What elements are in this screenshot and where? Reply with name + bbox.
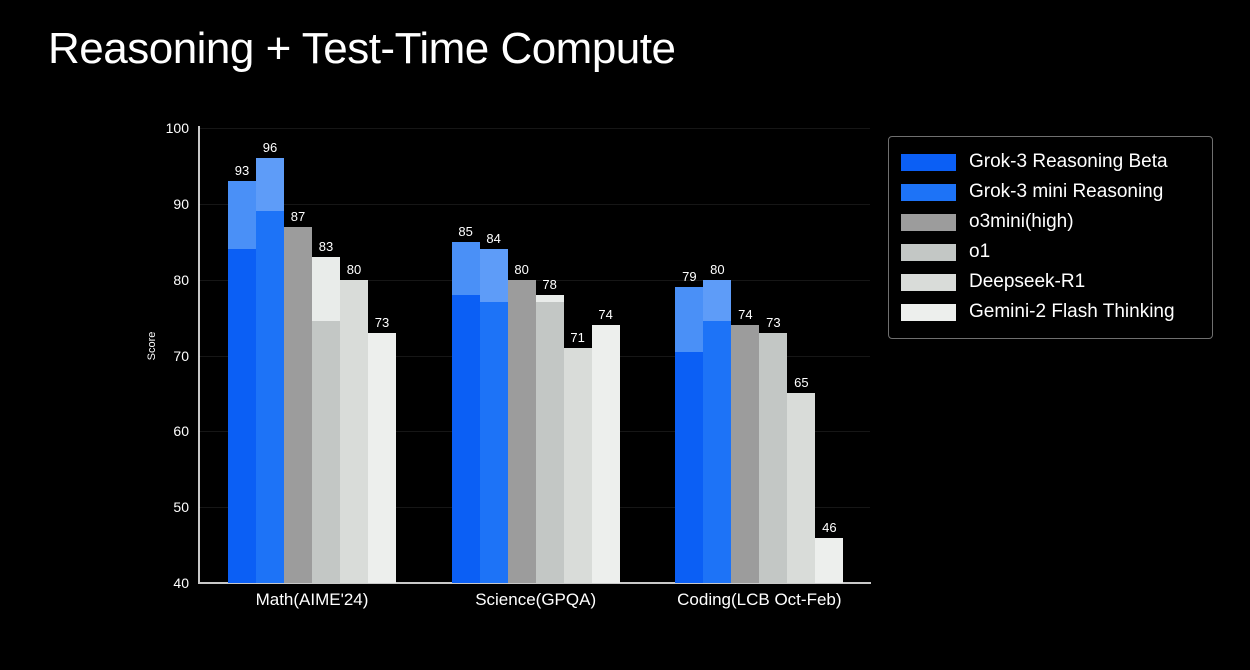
bar-base-segment — [703, 321, 731, 583]
bar-base-segment — [284, 227, 312, 583]
bar-top-segment — [256, 158, 284, 211]
page-title: Reasoning + Test-Time Compute — [48, 24, 675, 74]
legend-color-swatch — [901, 244, 956, 261]
bar: 79 — [675, 287, 703, 583]
gridline — [199, 128, 870, 129]
bar: 65 — [787, 393, 815, 583]
y-tick-label: 60 — [141, 423, 189, 439]
bar-base-segment — [564, 348, 592, 583]
bar-value-label: 87 — [291, 210, 305, 224]
bar-base-segment — [536, 302, 564, 583]
bar-base-segment — [452, 295, 480, 583]
bar-top-segment — [480, 249, 508, 302]
bar: 74 — [592, 325, 620, 583]
legend-item-label: Grok-3 mini Reasoning — [969, 181, 1163, 203]
bar-value-label: 80 — [710, 263, 724, 277]
bar: 71 — [564, 348, 592, 583]
bar: 73 — [759, 333, 787, 583]
bar: 96 — [256, 158, 284, 583]
bar-base-segment — [480, 302, 508, 583]
bar-value-label: 93 — [235, 164, 249, 178]
bar-value-label: 80 — [514, 263, 528, 277]
legend-item[interactable]: Deepseek-R1 — [901, 267, 1200, 297]
y-tick-label: 80 — [141, 272, 189, 288]
bar-top-segment — [312, 257, 340, 321]
bar-top-segment — [536, 295, 564, 303]
x-category-label: Coding(LCB Oct-Feb) — [677, 590, 841, 610]
legend-item-label: Deepseek-R1 — [969, 271, 1085, 293]
bar-base-segment — [340, 280, 368, 583]
x-category-label: Math(AIME'24) — [256, 590, 369, 610]
bar-value-label: 46 — [822, 521, 836, 535]
legend-color-swatch — [901, 304, 956, 321]
legend-item-label: Gemini-2 Flash Thinking — [969, 301, 1175, 323]
bar: 74 — [731, 325, 759, 583]
legend-item[interactable]: o1 — [901, 237, 1200, 267]
bar-value-label: 65 — [794, 376, 808, 390]
legend-item-label: o1 — [969, 241, 990, 263]
bar-value-label: 84 — [486, 232, 500, 246]
bar-value-label: 73 — [375, 316, 389, 330]
bar-base-segment — [815, 538, 843, 584]
bar: 80 — [340, 280, 368, 583]
legend-color-swatch — [901, 184, 956, 201]
chart-legend: Grok-3 Reasoning BetaGrok-3 mini Reasoni… — [888, 136, 1213, 339]
bar-base-segment — [508, 280, 536, 583]
bar-base-segment — [256, 211, 284, 583]
bar-base-segment — [228, 249, 256, 583]
bar-value-label: 74 — [598, 308, 612, 322]
legend-item[interactable]: Grok-3 mini Reasoning — [901, 177, 1200, 207]
bar: 78 — [536, 295, 564, 583]
bar-top-segment — [703, 280, 731, 322]
bar: 80 — [703, 280, 731, 583]
bar-value-label: 79 — [682, 270, 696, 284]
y-tick-label: 50 — [141, 499, 189, 515]
bar: 93 — [228, 181, 256, 583]
bar-base-segment — [675, 352, 703, 583]
chart-plot-area: 939687838073858480787174798074736546 — [199, 128, 870, 583]
bar: 87 — [284, 227, 312, 583]
x-category-label: Science(GPQA) — [475, 590, 596, 610]
bar-top-segment — [452, 242, 480, 295]
bar: 73 — [368, 333, 396, 583]
bar-value-label: 80 — [347, 263, 361, 277]
bar-top-segment — [228, 181, 256, 249]
gridline — [199, 204, 870, 205]
bar: 80 — [508, 280, 536, 583]
bar-value-label: 85 — [458, 225, 472, 239]
legend-item[interactable]: Grok-3 Reasoning Beta — [901, 147, 1200, 177]
legend-item[interactable]: o3mini(high) — [901, 207, 1200, 237]
slide-canvas: Reasoning + Test-Time Compute Score 9396… — [0, 0, 1250, 670]
legend-item-label: Grok-3 Reasoning Beta — [969, 151, 1168, 173]
bar-value-label: 71 — [570, 331, 584, 345]
bar-base-segment — [312, 321, 340, 583]
y-tick-label: 100 — [141, 120, 189, 136]
bar-base-segment — [368, 333, 396, 583]
bar: 83 — [312, 257, 340, 583]
bar-base-segment — [592, 325, 620, 583]
bar-value-label: 74 — [738, 308, 752, 322]
y-tick-label: 70 — [141, 348, 189, 364]
legend-color-swatch — [901, 154, 956, 171]
y-tick-label: 40 — [141, 575, 189, 591]
legend-color-swatch — [901, 274, 956, 291]
bar-base-segment — [787, 393, 815, 583]
legend-item-label: o3mini(high) — [969, 211, 1074, 233]
bar: 85 — [452, 242, 480, 583]
bar-base-segment — [731, 325, 759, 583]
bar: 84 — [480, 249, 508, 583]
bar-base-segment — [759, 333, 787, 583]
y-tick-label: 90 — [141, 196, 189, 212]
bar: 46 — [815, 538, 843, 584]
bar-value-label: 96 — [263, 141, 277, 155]
bar-value-label: 78 — [542, 278, 556, 292]
legend-color-swatch — [901, 214, 956, 231]
bar-top-segment — [675, 287, 703, 351]
legend-item[interactable]: Gemini-2 Flash Thinking — [901, 297, 1200, 327]
bar-value-label: 73 — [766, 316, 780, 330]
bar-value-label: 83 — [319, 240, 333, 254]
